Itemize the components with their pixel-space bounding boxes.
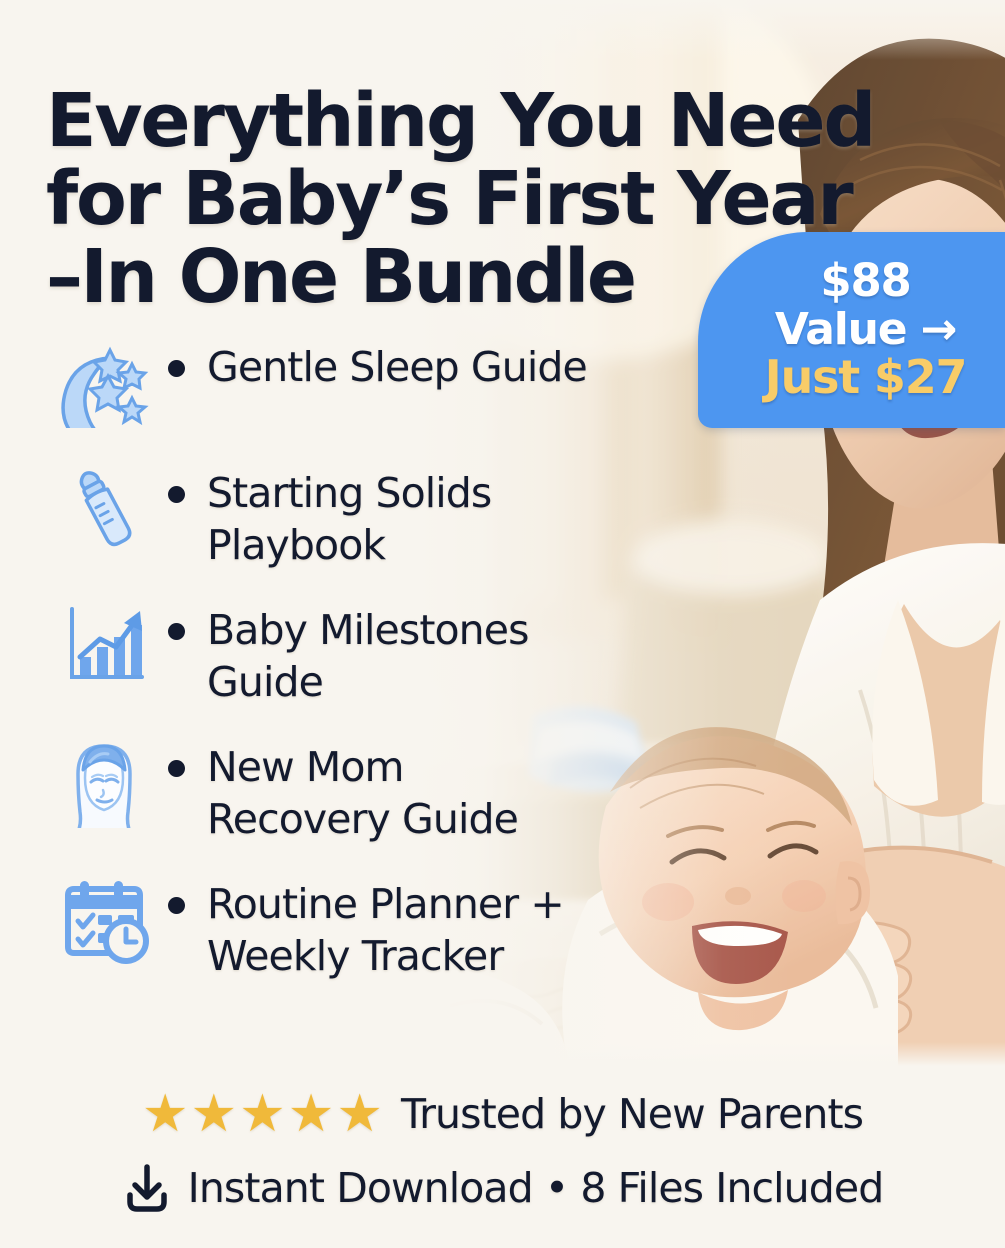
badge-value-label: Value → (775, 306, 956, 354)
badge-value-amount: $88 (820, 257, 910, 306)
list-item: Starting Solids Playbook (52, 456, 692, 571)
download-label: Instant Download • 8 Files Included (188, 1164, 884, 1212)
star-icon: ★ (288, 1088, 335, 1140)
bullet-marker (168, 360, 185, 377)
star-icon: ★ (239, 1088, 286, 1140)
feature-label: New Mom Recovery Guide (207, 730, 518, 845)
star-icon: ★ (142, 1088, 189, 1140)
feature-label: Starting Solids Playbook (207, 456, 491, 571)
list-item: Gentle Sleep Guide (52, 330, 692, 434)
star-icon: ★ (336, 1088, 383, 1140)
promo-poster: Everything You Need for Baby’s First Yea… (0, 0, 1005, 1248)
badge-deal-label: Just $27 (765, 353, 967, 403)
star-icon: ★ (190, 1088, 237, 1140)
feature-list: Gentle Sleep Guide (52, 330, 692, 1005)
list-item: Routine Planner + Weekly Tracker (52, 867, 692, 982)
list-item: Baby Milestones Guide (52, 593, 692, 708)
woman-face-spa-icon (52, 730, 156, 834)
star-rating: ★ ★ ★ ★ ★ (142, 1088, 383, 1140)
bullet-marker (168, 760, 185, 777)
bullet-marker (168, 623, 185, 640)
list-item: New Mom Recovery Guide (52, 730, 692, 845)
trust-section: ★ ★ ★ ★ ★ Trusted by New Parents Instant… (0, 1088, 1005, 1214)
feature-label: Gentle Sleep Guide (207, 330, 587, 393)
headline-line-2: for Baby’s First Year (46, 160, 946, 238)
bullet-marker (168, 486, 185, 503)
headline-line-1: Everything You Need (46, 82, 946, 160)
growth-chart-icon (52, 593, 156, 697)
rating-row: ★ ★ ★ ★ ★ Trusted by New Parents (0, 1088, 1005, 1140)
feature-label: Routine Planner + Weekly Tracker (207, 867, 564, 982)
calendar-clock-icon (52, 867, 156, 971)
download-row: Instant Download • 8 Files Included (0, 1162, 1005, 1214)
rating-label: Trusted by New Parents (401, 1090, 863, 1138)
moon-stars-icon (52, 330, 156, 434)
bullet-marker (168, 897, 185, 914)
price-badge[interactable]: $88 Value → Just $27 (698, 232, 1005, 428)
feature-label: Baby Milestones Guide (207, 593, 529, 708)
baby-bottle-icon (52, 456, 156, 560)
download-icon (122, 1162, 172, 1214)
